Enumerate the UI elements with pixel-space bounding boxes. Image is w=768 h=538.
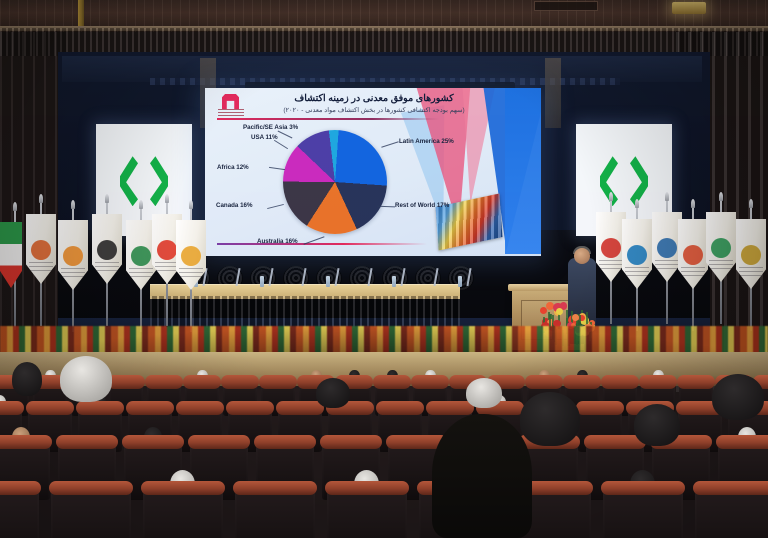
left-wall	[0, 32, 66, 362]
flag-finial	[165, 194, 169, 203]
flag-emblem	[31, 240, 51, 260]
green-emblem-logo	[118, 156, 170, 208]
pie-label-usa: USA 11%	[251, 134, 278, 141]
flower	[572, 314, 579, 321]
audience-seat	[143, 488, 223, 538]
slide-accent-rule-bottom	[217, 243, 427, 245]
flag-emblem	[97, 240, 117, 260]
flag-organization-name	[625, 267, 649, 277]
panel-table-skirt	[150, 296, 460, 328]
audience-member	[316, 378, 350, 408]
audience-seat	[695, 488, 768, 538]
flag-finial	[71, 200, 75, 209]
seat-headrest	[188, 435, 250, 449]
flag-emblem	[63, 246, 83, 266]
seat-headrest	[716, 435, 768, 449]
flag-organization-name	[61, 268, 85, 278]
audience-member	[712, 374, 764, 420]
flag-finial	[13, 202, 17, 211]
seat-headrest	[233, 481, 317, 495]
seat-headrest	[0, 435, 52, 449]
slide-ribbon-blue-2	[505, 88, 541, 254]
seat-headrest	[126, 401, 174, 415]
flag-finial	[39, 194, 43, 203]
seat-headrest	[141, 481, 225, 495]
ceiling-lamp	[672, 2, 706, 14]
emblem-leaf-right	[630, 156, 648, 206]
seat-headrest	[639, 375, 677, 389]
flag-emblem	[131, 246, 151, 266]
audience-member	[432, 414, 532, 538]
audience-member	[60, 356, 112, 402]
flower	[556, 308, 563, 315]
seat-headrest	[693, 481, 768, 495]
seat-headrest	[145, 375, 183, 389]
green-emblem-logo	[598, 156, 650, 208]
flag-organization-name	[739, 267, 763, 277]
audience-seat	[51, 488, 131, 538]
pie-label-latin-america: Latin America 25%	[399, 138, 454, 145]
seat-headrest	[601, 481, 685, 495]
flag-organization-name	[155, 262, 179, 272]
flag-finial	[665, 192, 669, 201]
audience-member	[520, 392, 580, 446]
flag-emblem	[627, 245, 647, 265]
flag-organization-name	[29, 262, 53, 272]
flag-organization-name	[95, 262, 119, 272]
pie-label-rest-of-world: Rest of World 17%	[395, 202, 449, 209]
flower	[540, 307, 547, 314]
flag-finial	[749, 199, 753, 208]
pie-label-australia: Australia 16%	[257, 238, 298, 245]
seat-headrest	[426, 401, 474, 415]
seat-headrest	[411, 375, 449, 389]
flag-organization-name	[681, 267, 705, 277]
seat-headrest	[259, 375, 297, 389]
pie-chart-disc	[283, 130, 387, 234]
seat-headrest	[221, 375, 259, 389]
seat-headrest	[276, 401, 324, 415]
flag-organization-name	[709, 260, 733, 270]
seat-headrest	[0, 481, 41, 495]
seat-headrest	[320, 435, 382, 449]
flag-emblem	[741, 245, 761, 265]
seat-headrest	[176, 401, 224, 415]
seat-headrest	[677, 375, 715, 389]
pie-label-pacific: Pacific/SE Asia 3%	[243, 124, 298, 131]
seat-headrest	[525, 375, 563, 389]
flag-emblem	[711, 238, 731, 258]
audience-seat	[603, 488, 683, 538]
mining-org-logo	[218, 94, 244, 116]
seat-headrest	[76, 401, 124, 415]
wall-panel-right	[545, 58, 561, 128]
flag-emblem	[157, 240, 177, 260]
emblem-leaf-left	[120, 156, 138, 206]
audience-member	[634, 404, 680, 446]
flag-organization-name	[655, 260, 679, 270]
presentation-slide: کشورهای موفق معدنی در زمینه اکتشاف (سهم …	[205, 88, 541, 256]
flag-organization-name	[129, 268, 153, 278]
flag-finial	[189, 200, 193, 209]
pie-label-canada: Canada 16%	[216, 202, 252, 209]
leader-line-canada	[267, 204, 284, 209]
pie-label-africa: Africa 12%	[217, 164, 249, 171]
seat-headrest	[26, 401, 74, 415]
slide-subtitle: (سهم بودجه اکتشافی کشورها در بخش اکتشاف …	[249, 106, 499, 114]
flag-emblem	[657, 238, 677, 258]
audience-member	[466, 378, 502, 408]
water-bottle	[392, 276, 396, 287]
flag-finial	[691, 199, 695, 208]
audience-member	[12, 362, 42, 396]
seat-headrest	[122, 435, 184, 449]
flag-finial	[139, 200, 143, 209]
flag-organization-name	[599, 260, 623, 270]
seat-headrest	[376, 401, 424, 415]
slide-title: کشورهای موفق معدنی در زمینه اکتشاف	[249, 93, 499, 104]
water-bottle	[458, 276, 462, 287]
audience-seat	[235, 488, 315, 538]
seat-headrest	[254, 435, 316, 449]
water-bottle	[326, 276, 330, 287]
logo-mark	[222, 94, 239, 109]
audience-seat	[327, 488, 407, 538]
seat-headrest	[601, 375, 639, 389]
seat-headrest	[0, 401, 24, 415]
flag-organization-name	[179, 268, 203, 278]
audience-seat	[0, 488, 39, 538]
audience-seating	[0, 356, 768, 538]
seat-headrest	[226, 401, 274, 415]
presenter-head	[574, 248, 590, 264]
flag-finial	[635, 199, 639, 208]
slide-accent-rule-top	[217, 118, 439, 120]
seat-headrest	[183, 375, 221, 389]
emblem-text	[129, 183, 159, 195]
flag-finial	[105, 194, 109, 203]
seat-headrest	[107, 375, 145, 389]
flag-emblem	[601, 238, 621, 258]
seat-headrest	[373, 375, 411, 389]
ceiling-vent	[534, 1, 598, 11]
seat-headrest	[49, 481, 133, 495]
seat-headrest	[563, 375, 601, 389]
flag-finial	[719, 192, 723, 201]
seat-headrest	[576, 401, 624, 415]
seat-headrest	[56, 435, 118, 449]
water-bottle	[260, 276, 264, 287]
pie-chart	[283, 130, 387, 234]
conference-hall-scene: کشورهای موفق معدنی در زمینه اکتشاف (سهم …	[0, 0, 768, 538]
seat-headrest	[325, 481, 409, 495]
logo-wordmark	[218, 109, 244, 116]
emblem-text	[609, 183, 639, 195]
flag-emblem	[181, 246, 201, 266]
main-projection-screen: کشورهای موفق معدنی در زمینه اکتشاف (سهم …	[205, 88, 541, 256]
flag-emblem	[683, 245, 703, 265]
flag-finial	[609, 192, 613, 201]
